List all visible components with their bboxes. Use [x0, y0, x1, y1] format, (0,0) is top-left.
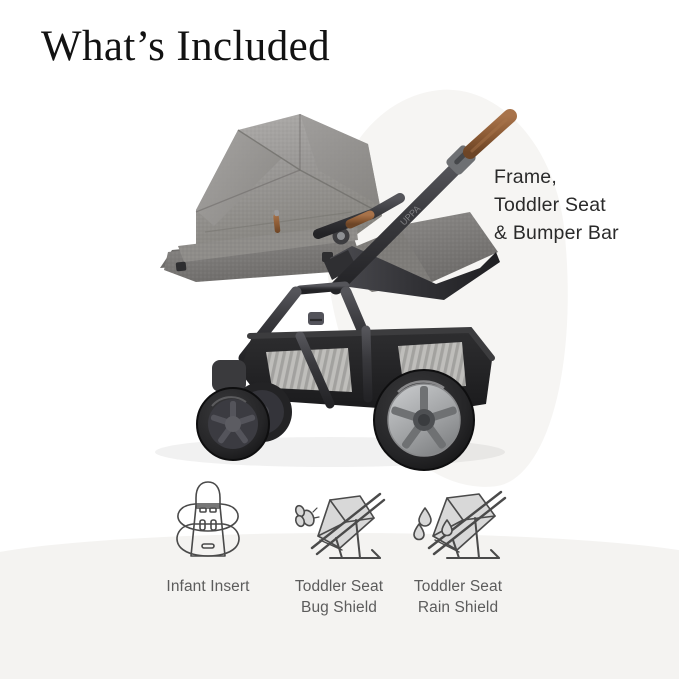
frame-upper-strut [300, 286, 345, 290]
infant-insert-icon-wrap [133, 478, 283, 562]
whats-included-infographic: What’s Included Frame, Toddler Seat & Bu… [0, 0, 679, 679]
frame-basket-divider [366, 330, 368, 398]
bug-glyph [294, 504, 319, 527]
accessory-label-infant-insert: Infant Insert [133, 576, 283, 597]
accessory-item-infant-insert[interactable]: Infant Insert [133, 478, 283, 597]
front-swivel-housing [212, 360, 246, 392]
brake-pedal [308, 312, 324, 325]
accessory-label-rain-shield: Toddler Seat Rain Shield [383, 576, 533, 618]
rain-shield-icon-wrap [383, 478, 533, 562]
rear-wheel [374, 370, 474, 470]
accessory-item-rain-shield[interactable]: Toddler Seat Rain Shield [383, 478, 533, 618]
toddler-seat-bug-shield-icon [284, 478, 394, 562]
stroller-product-image: UPPA [0, 0, 679, 500]
accessories-row: Infant Insert [0, 478, 679, 628]
toddler-seat-rain-shield-icon [403, 478, 513, 562]
infant-insert-icon [163, 478, 253, 562]
bassinet-clip-left [176, 261, 187, 271]
